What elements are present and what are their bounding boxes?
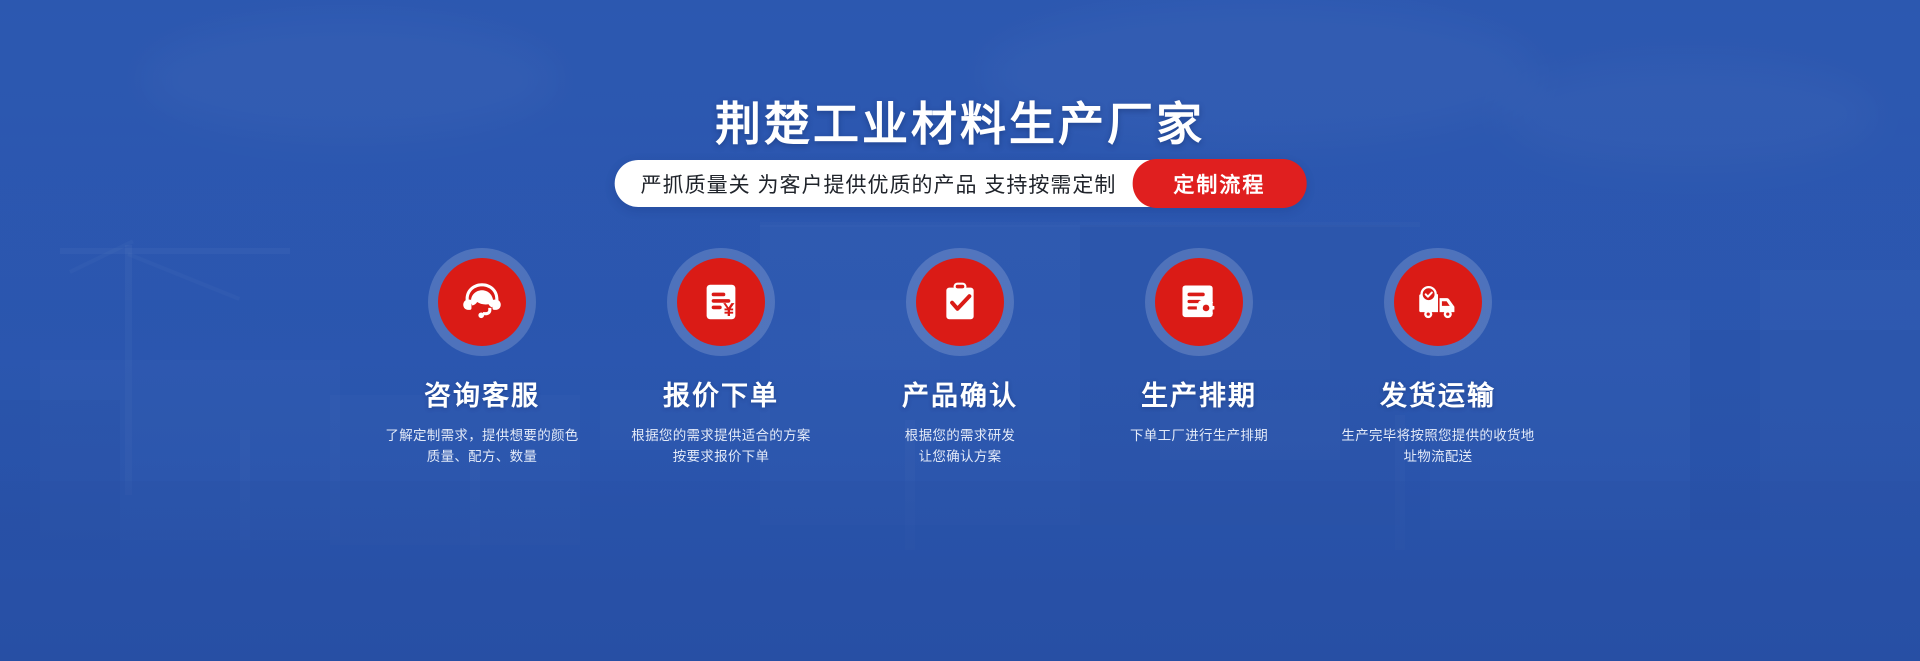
tagline-text: 严抓质量关 为客户提供优质的产品 支持按需定制: [615, 160, 1133, 207]
step-description: 根据您的需求提供适合的方案 按要求报价下单: [631, 426, 810, 468]
step-icon-ring: [667, 248, 775, 356]
step-description-line: 质量、配方、数量: [385, 447, 578, 468]
process-steps: 咨询客服 了解定制需求，提供想要的颜色 质量、配方、数量: [375, 248, 1545, 468]
step-icon-disc: [677, 258, 765, 346]
step-title: 发货运输: [1380, 374, 1496, 413]
process-step-quote[interactable]: 报价下单 根据您的需求提供适合的方案 按要求报价下单: [614, 248, 828, 468]
process-step-delivery[interactable]: 发货运输 生产完毕将按照您提供的收货地 址物流配送: [1331, 248, 1545, 468]
step-icon-ring: [906, 248, 1014, 356]
step-description-line: 让您确认方案: [905, 447, 1015, 468]
document-gear-icon: [1176, 279, 1222, 325]
page-title: 荆楚工业材料生产厂家: [0, 88, 1920, 154]
step-icon-disc: [1394, 258, 1482, 346]
step-description: 了解定制需求，提供想要的颜色 质量、配方、数量: [385, 426, 578, 468]
step-description-line: 址物流配送: [1341, 447, 1534, 468]
step-description-line: 生产完毕将按照您提供的收货地: [1341, 426, 1534, 447]
step-icon-disc: [438, 258, 526, 346]
clipboard-check-icon: [937, 279, 983, 325]
banner-root: 荆楚工业材料生产厂家 严抓质量关 为客户提供优质的产品 支持按需定制 定制流程: [0, 0, 1920, 661]
step-description-line: 根据您的需求提供适合的方案: [631, 426, 810, 447]
process-step-schedule[interactable]: 生产排期 下单工厂进行生产排期: [1092, 248, 1306, 447]
step-title: 生产排期: [1141, 374, 1257, 413]
step-description: 下单工厂进行生产排期: [1130, 426, 1268, 447]
step-description-line: 按要求报价下单: [631, 447, 810, 468]
tagline-pill: 严抓质量关 为客户提供优质的产品 支持按需定制 定制流程: [615, 160, 1306, 207]
step-description-line: 下单工厂进行生产排期: [1130, 426, 1268, 447]
step-title: 咨询客服: [424, 374, 540, 413]
step-title: 产品确认: [902, 374, 1018, 413]
delivery-truck-check-icon: [1413, 277, 1463, 327]
step-icon-ring: [428, 248, 536, 356]
step-description: 生产完毕将按照您提供的收货地 址物流配送: [1341, 426, 1534, 468]
process-step-confirm[interactable]: 产品确认 根据您的需求研发 让您确认方案: [853, 248, 1067, 468]
process-step-consult[interactable]: 咨询客服 了解定制需求，提供想要的颜色 质量、配方、数量: [375, 248, 589, 468]
step-description-line: 了解定制需求，提供想要的颜色: [385, 426, 578, 447]
step-description: 根据您的需求研发 让您确认方案: [905, 426, 1015, 468]
step-icon-ring: [1145, 248, 1253, 356]
step-icon-disc: [916, 258, 1004, 346]
step-icon-disc: [1155, 258, 1243, 346]
invoice-yuan-icon: [698, 279, 744, 325]
custom-process-button[interactable]: 定制流程: [1132, 159, 1306, 208]
step-icon-ring: [1384, 248, 1492, 356]
step-title: 报价下单: [663, 374, 779, 413]
headset-support-icon: [457, 277, 507, 327]
step-description-line: 根据您的需求研发: [905, 426, 1015, 447]
